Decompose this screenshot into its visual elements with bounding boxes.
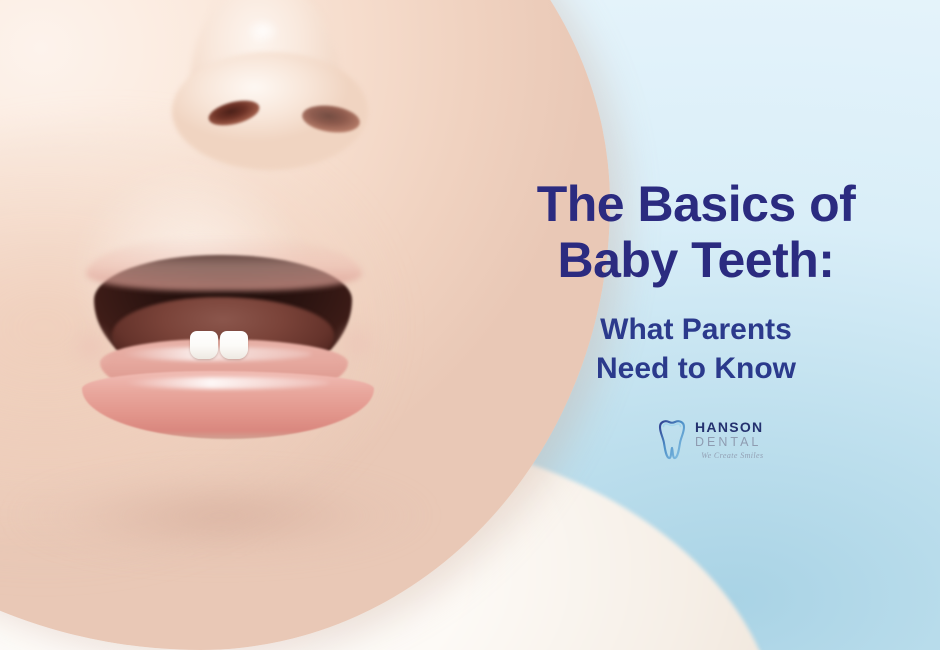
baby-nose [150, 10, 400, 195]
mouth-corner-right [328, 313, 388, 373]
logo-tagline: We Create Smiles [695, 452, 763, 460]
mouth-corner-left [60, 317, 120, 377]
logo-name: HANSON [695, 420, 763, 434]
baby-teeth [190, 331, 250, 361]
logo-wordmark: HANSON DENTAL We Create Smiles [695, 420, 763, 460]
article-hero-banner: The Basics of Baby Teeth: What Parents N… [0, 0, 940, 650]
brand-logo[interactable]: HANSON DENTAL We Create Smiles [655, 414, 763, 466]
page-title: The Basics of Baby Teeth: [496, 176, 896, 288]
tooth-icon [655, 418, 689, 462]
baby-tooth-left [190, 331, 218, 359]
baby-tooth-right [220, 331, 248, 359]
hero-text-block: The Basics of Baby Teeth: What Parents N… [496, 176, 896, 388]
upper-lip [86, 235, 362, 291]
page-subtitle: What Parents Need to Know [496, 310, 896, 388]
nose-highlight [246, 18, 280, 44]
logo-subname: DENTAL [695, 436, 763, 449]
baby-mouth [86, 243, 362, 433]
lower-lip-highlight [124, 377, 330, 389]
